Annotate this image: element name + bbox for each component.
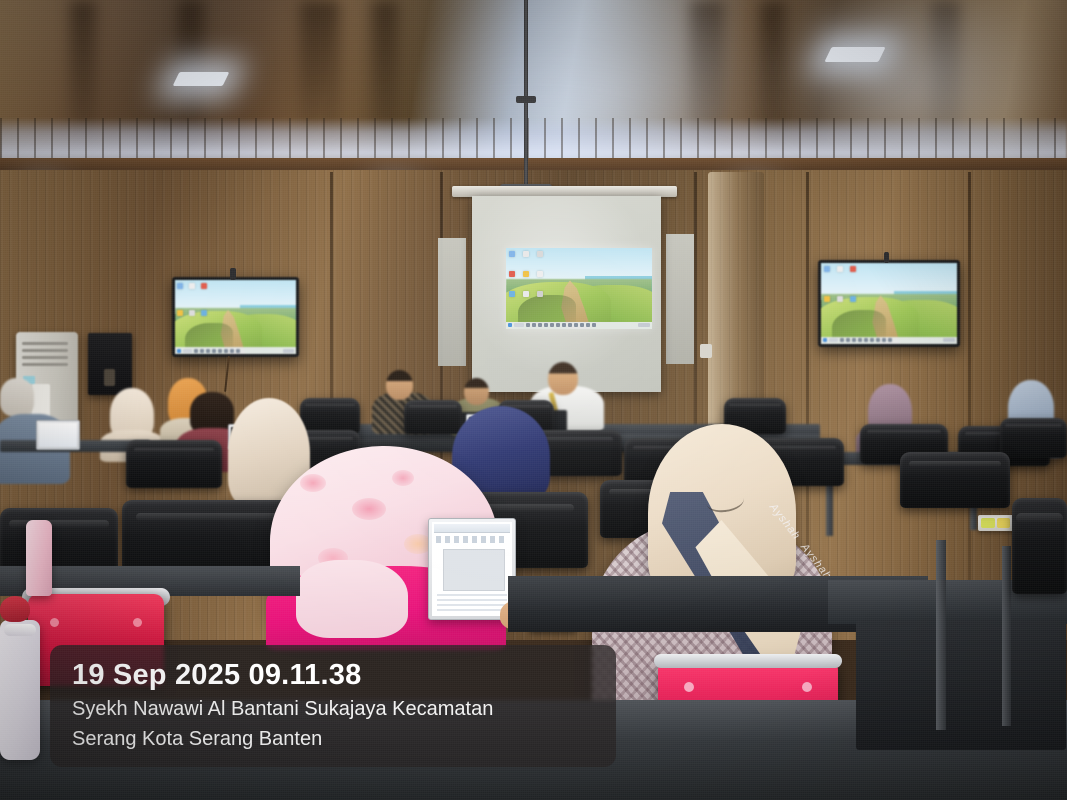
desk-divider-panel	[856, 620, 1066, 750]
white-tumbler	[0, 620, 40, 760]
chair	[900, 452, 1010, 508]
chair	[404, 400, 462, 434]
timestamp-overlay: 19 Sep 2025 09.11.38 Syekh Nawawi Al Ban…	[50, 645, 616, 767]
tv-monitor-right	[818, 260, 960, 347]
tv-monitor-left	[172, 277, 299, 357]
pink-water-bottle	[26, 520, 52, 596]
desktop-icons	[509, 251, 547, 308]
photo-scene: Ayshah Ayshah Ayshah 19 Sep 2	[0, 0, 1067, 800]
chair	[300, 398, 360, 434]
wall-board-left	[438, 238, 466, 366]
ac-panel	[32, 384, 50, 418]
taskbar	[175, 347, 296, 354]
chair	[1000, 418, 1067, 458]
desk-leg	[1002, 546, 1011, 726]
timestamp-address-line-1: Syekh Nawawi Al Bantani Sukajaya Kecamat…	[72, 696, 594, 722]
chair	[126, 440, 222, 488]
chair	[1012, 498, 1067, 594]
timestamp-date-time: 19 Sep 2025 09.11.38	[72, 659, 594, 692]
projector-pole	[524, 0, 528, 188]
wall-board-right	[666, 234, 694, 364]
desktop-icons	[177, 283, 208, 335]
laptop	[36, 420, 80, 450]
key-fob	[0, 596, 30, 622]
wall-socket	[700, 344, 712, 358]
tv-bracket-right	[884, 252, 889, 263]
ceiling-light-left	[173, 72, 230, 86]
projection-screen-content	[506, 248, 652, 329]
projector-mount	[516, 96, 536, 103]
desktop-icons	[824, 266, 859, 323]
timestamp-address-line-2: Serang Kota Serang Banten	[72, 726, 594, 752]
taskbar	[506, 322, 652, 329]
desk-leg	[936, 540, 946, 730]
tv-bracket-left	[230, 268, 236, 280]
wall-speaker	[88, 333, 132, 395]
speaker-driver-icon	[104, 369, 115, 386]
taskbar	[821, 337, 957, 344]
ceiling-light-right	[824, 47, 885, 62]
